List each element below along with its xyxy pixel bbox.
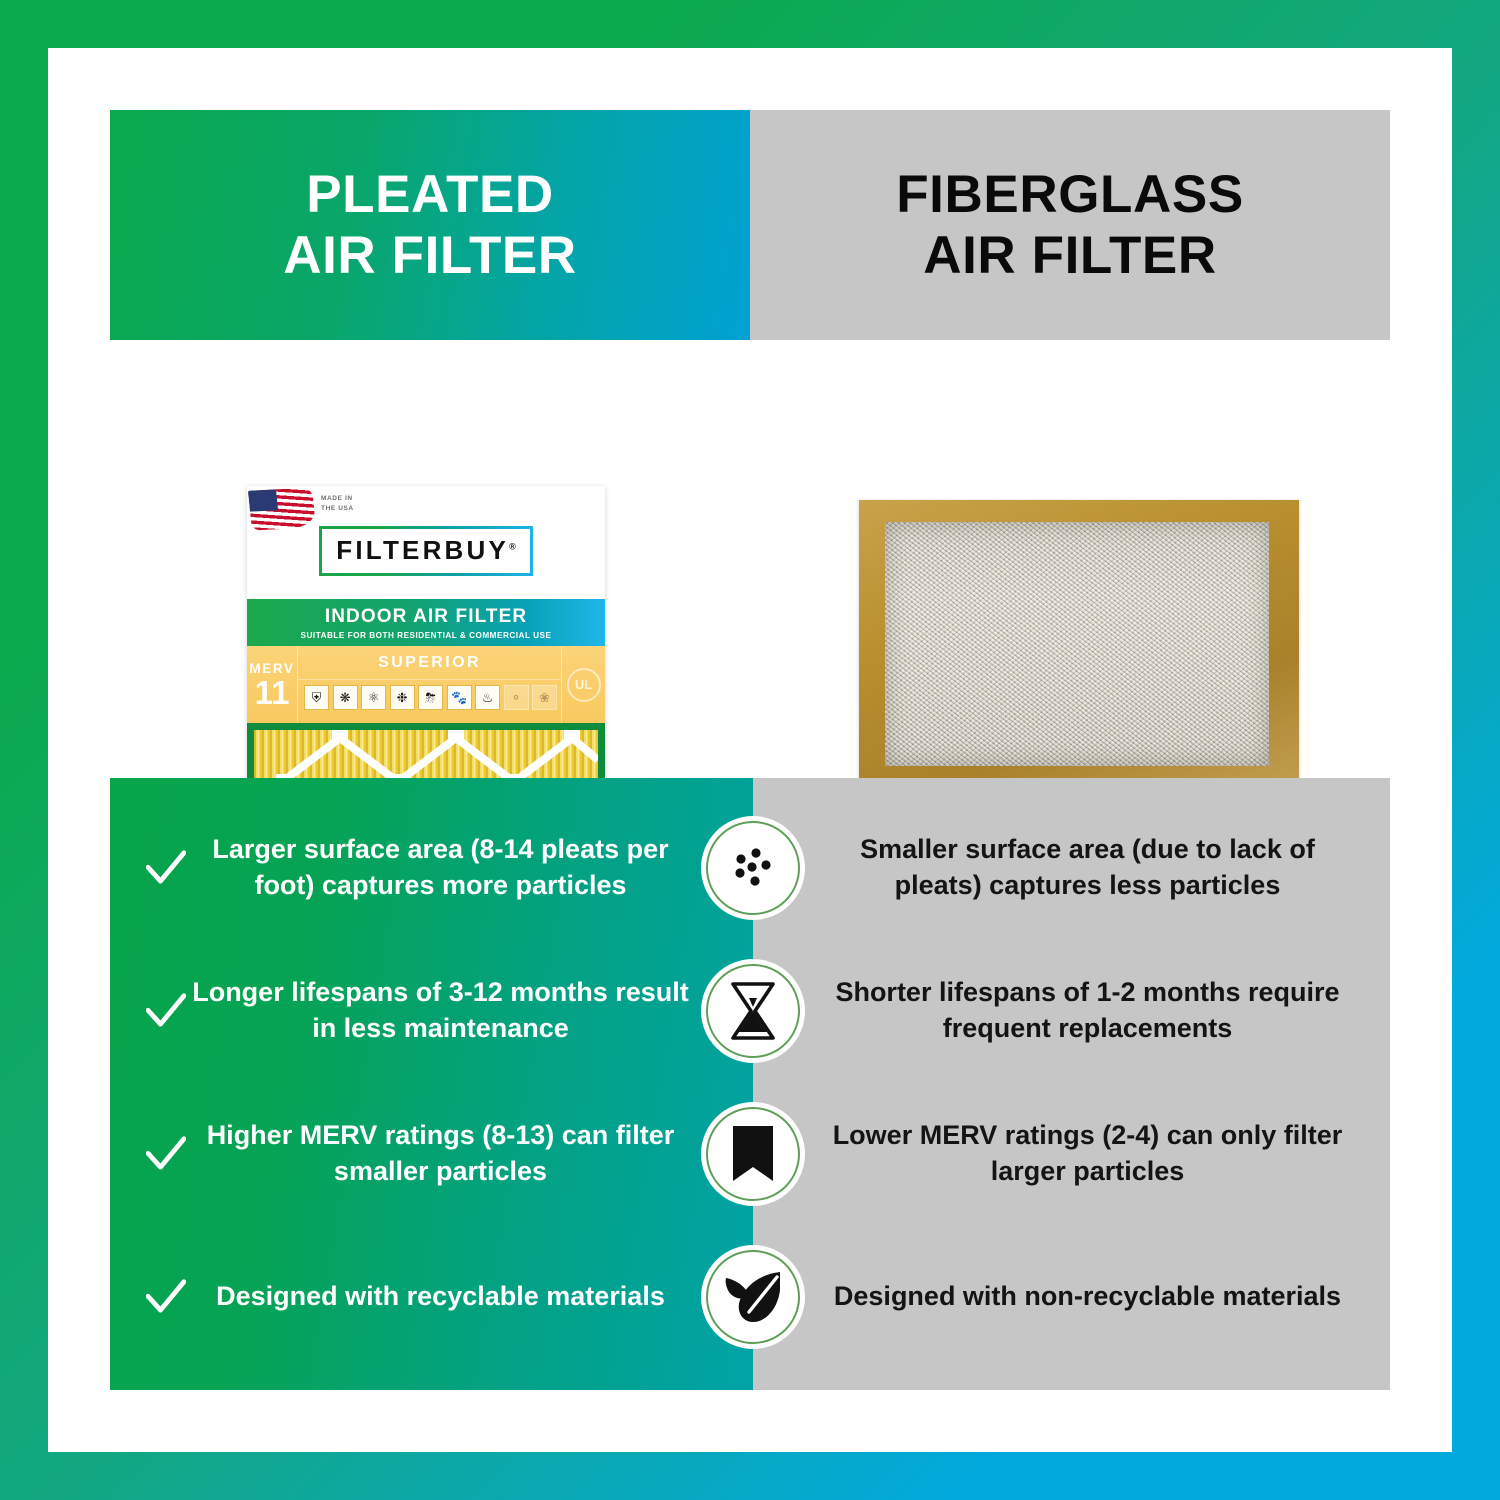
banner-title: INDOOR AIR FILTER bbox=[325, 606, 527, 628]
mold-icon: ⛈ bbox=[418, 685, 443, 710]
row-3-right-text: Lower MERV ratings (2-4) can only filter… bbox=[831, 1118, 1344, 1188]
header-pleated-line1: PLEATED bbox=[306, 164, 554, 225]
row-3-left-text: Higher MERV ratings (8-13) can filter sm… bbox=[186, 1118, 695, 1188]
pleated-box-banner: INDOOR AIR FILTER SUITABLE FOR BOTH RESI… bbox=[247, 599, 605, 646]
row-1-left: Larger surface area (8-14 pleats per foo… bbox=[110, 832, 753, 902]
tier-label: SUPERIOR bbox=[298, 646, 561, 680]
row-1-right: Smaller surface area (due to lack of ple… bbox=[753, 832, 1390, 902]
row-4-left: Designed with recyclable materials bbox=[110, 1272, 753, 1322]
header-pleated: PLEATED AIR FILTER bbox=[110, 110, 750, 340]
bacteria-icon: ⚛ bbox=[361, 685, 386, 710]
header-fiberglass: FIBERGLASS AIR FILTER bbox=[750, 110, 1390, 340]
comparison-row: Higher MERV ratings (8-13) can filter sm… bbox=[110, 1082, 1390, 1225]
row-1-right-text: Smaller surface area (due to lack of ple… bbox=[831, 832, 1344, 902]
check-icon bbox=[110, 1129, 186, 1179]
fiberglass-filter-product-image bbox=[859, 500, 1299, 792]
banner-subtitle: SUITABLE FOR BOTH RESIDENTIAL & COMMERCI… bbox=[301, 631, 552, 640]
check-icon bbox=[110, 1272, 186, 1322]
usa-flag-icon bbox=[248, 487, 316, 530]
merv-block: MERV 11 bbox=[247, 646, 298, 723]
pet-dander-icon: 🐾 bbox=[447, 685, 472, 710]
row-4-left-text: Designed with recyclable materials bbox=[186, 1279, 695, 1314]
tier-and-icons: SUPERIOR ⛨ ❋ ⚛ ❉ ⛈ 🐾 ♨ ⚬ bbox=[298, 646, 561, 723]
leaf-icon bbox=[706, 1250, 800, 1344]
filterbuy-wordmark: FILTERBUY® bbox=[336, 535, 515, 566]
product-image-row: MADE IN THE USA FILTERBUY® INDOOR AIR FI… bbox=[110, 340, 1390, 778]
comparison-row: Larger surface area (8-14 pleats per foo… bbox=[110, 796, 1390, 939]
pleated-box-merv-strip: MERV 11 SUPERIOR ⛨ ❋ ⚛ ❉ ⛈ bbox=[247, 646, 605, 723]
comparison-panel: Larger surface area (8-14 pleats per foo… bbox=[110, 778, 1390, 1390]
fiberglass-image-cell bbox=[750, 340, 1390, 778]
header-fiberglass-line1: FIBERGLASS bbox=[896, 164, 1244, 225]
bookmark-icon bbox=[706, 1107, 800, 1201]
row-4-right: Designed with non-recyclable materials bbox=[753, 1279, 1390, 1314]
pleated-image-cell: MADE IN THE USA FILTERBUY® INDOOR AIR FI… bbox=[110, 340, 750, 778]
infographic-board: PLEATED AIR FILTER FIBERGLASS AIR FILTER bbox=[110, 110, 1390, 1390]
dust-icon: ⛨ bbox=[304, 685, 329, 710]
row-3-right: Lower MERV ratings (2-4) can only filter… bbox=[753, 1118, 1390, 1188]
comparison-row: Designed with recyclable materials bbox=[110, 1225, 1390, 1368]
header-pleated-line2: AIR FILTER bbox=[283, 225, 577, 286]
comparison-rows: Larger surface area (8-14 pleats per foo… bbox=[110, 778, 1390, 1390]
particles-icon bbox=[706, 821, 800, 915]
gradient-border-frame: PLEATED AIR FILTER FIBERGLASS AIR FILTER bbox=[0, 0, 1500, 1500]
faded-icon-2: ❀ bbox=[532, 685, 557, 710]
pleated-box-top: MADE IN THE USA FILTERBUY® bbox=[247, 486, 605, 599]
fiberglass-media-texture bbox=[885, 522, 1269, 766]
header-fiberglass-line2: AIR FILTER bbox=[923, 225, 1217, 286]
hourglass-icon bbox=[706, 964, 800, 1058]
row-2-left-text: Longer lifespans of 3-12 months result i… bbox=[186, 975, 695, 1045]
check-icon bbox=[110, 843, 186, 893]
faded-icon-1: ⚬ bbox=[504, 685, 529, 710]
row-4-right-text: Designed with non-recyclable materials bbox=[831, 1279, 1344, 1314]
comparison-row: Longer lifespans of 3-12 months result i… bbox=[110, 939, 1390, 1082]
header-row: PLEATED AIR FILTER FIBERGLASS AIR FILTER bbox=[110, 110, 1390, 340]
pollen-icon: ❉ bbox=[390, 685, 415, 710]
row-1-left-text: Larger surface area (8-14 pleats per foo… bbox=[186, 832, 695, 902]
row-3-left: Higher MERV ratings (8-13) can filter sm… bbox=[110, 1118, 753, 1188]
made-in-usa-label: MADE IN THE USA bbox=[321, 494, 354, 514]
row-2-left: Longer lifespans of 3-12 months result i… bbox=[110, 975, 753, 1045]
certification-block: UL bbox=[561, 646, 605, 723]
merv-value: 11 bbox=[255, 677, 290, 708]
ul-certification-icon: UL bbox=[567, 668, 601, 702]
row-2-right-text: Shorter lifespans of 1-2 months require … bbox=[831, 975, 1344, 1045]
filterbuy-logo-box: FILTERBUY® bbox=[319, 526, 532, 576]
insect-icon: ❋ bbox=[333, 685, 358, 710]
white-canvas: PLEATED AIR FILTER FIBERGLASS AIR FILTER bbox=[48, 48, 1452, 1452]
check-icon bbox=[110, 986, 186, 1036]
smoke-icon: ♨ bbox=[475, 685, 500, 710]
row-2-right: Shorter lifespans of 1-2 months require … bbox=[753, 975, 1390, 1045]
feature-icon-strip: ⛨ ❋ ⚛ ❉ ⛈ 🐾 ♨ ⚬ ❀ bbox=[298, 680, 561, 710]
